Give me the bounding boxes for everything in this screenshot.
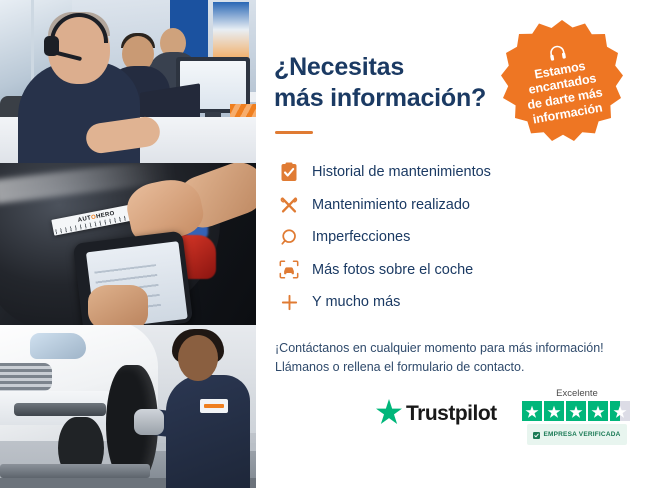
content-panel: ¿Necesitas más información? Estamos xyxy=(256,0,650,488)
plus-icon xyxy=(274,293,304,312)
clipboard-check-icon xyxy=(274,162,304,182)
car-scan-icon xyxy=(274,260,304,279)
trustpilot-logo[interactable]: Trustpilot xyxy=(376,399,497,429)
star-filled-4 xyxy=(588,401,608,421)
star-filled-3 xyxy=(566,401,586,421)
list-item-label: Historial de mantenimientos xyxy=(312,164,491,180)
headset-icon xyxy=(546,41,568,63)
contact-paragraph-line1: ¡Contáctanos en cualquier momento para m… xyxy=(275,341,604,355)
page-title-line2: más información? xyxy=(274,84,486,112)
page-title: ¿Necesitas más información? xyxy=(274,52,524,113)
verified-company-label: EMPRESA VERIFICADA xyxy=(543,431,620,438)
wrench-screwdriver-icon xyxy=(274,195,304,215)
list-item-label: Imperfecciones xyxy=(312,229,410,245)
star-filled-2 xyxy=(544,401,564,421)
trustpilot-wordmark: Trustpilot xyxy=(406,402,497,426)
list-item: Y mucho más xyxy=(274,286,634,319)
car-headlamp-decor xyxy=(30,333,86,359)
star-filled-1 xyxy=(522,401,542,421)
list-item: Historial de mantenimientos xyxy=(274,156,634,189)
support-badge-text: Estamos encantados de darte más informac… xyxy=(507,54,620,130)
photo-column: AUTOHERO xyxy=(0,0,256,488)
list-item-label: Y mucho más xyxy=(312,294,400,310)
list-item: Mantenimiento realizado xyxy=(274,189,634,222)
feature-list: Historial de mantenimientos Mantenimient… xyxy=(274,156,634,319)
page-title-line1: ¿Necesitas xyxy=(274,53,404,81)
verified-company-badge: EMPRESA VERIFICADA xyxy=(527,424,626,445)
contact-paragraph: ¡Contáctanos en cualquier momento para m… xyxy=(275,339,627,378)
promo-card: AUTOHERO xyxy=(0,0,650,488)
title-underline-divider xyxy=(275,131,313,134)
car-grille-decor xyxy=(0,363,52,391)
rating-label: Excelente xyxy=(522,388,632,399)
support-badge: Estamos encantados de darte más informac… xyxy=(499,17,625,147)
verified-check-icon xyxy=(533,426,540,444)
star-glyph xyxy=(566,401,586,421)
support-badge-content: Estamos encantados de darte más informac… xyxy=(489,7,636,157)
star-rating xyxy=(522,401,632,421)
trustpilot-star-icon xyxy=(376,399,402,429)
inspector-hand-lower-decor xyxy=(88,285,148,326)
list-item: Imperfecciones xyxy=(274,221,634,254)
star-glyph xyxy=(588,401,608,421)
mechanic-glove-decor xyxy=(134,409,164,435)
list-item: Más fotos sobre el coche xyxy=(274,254,634,287)
star-glyph xyxy=(544,401,564,421)
trustpilot-rating: Excelente xyxy=(522,388,632,445)
trustpilot-widget[interactable]: Trustpilot Excelente xyxy=(376,388,632,452)
car-air-intake-decor xyxy=(14,403,106,416)
magnifier-icon xyxy=(274,228,304,247)
mechanic-logo-badge-decor xyxy=(200,399,228,413)
photo-wheel-inspection xyxy=(0,325,256,488)
poster-decor xyxy=(213,2,249,62)
car-lift-arm-decor xyxy=(0,464,150,478)
mechanic-body-decor xyxy=(166,375,250,488)
photo-car-inspection: AUTOHERO xyxy=(0,163,256,326)
photo-call-center xyxy=(0,0,256,163)
star-half-5 xyxy=(610,401,630,421)
list-item-label: Más fotos sobre el coche xyxy=(312,262,473,278)
star-glyph xyxy=(522,401,542,421)
star-glyph xyxy=(610,401,630,421)
list-item-label: Mantenimiento realizado xyxy=(312,197,470,213)
contact-paragraph-line2: Llámanos o rellena el formulario de cont… xyxy=(275,360,524,374)
